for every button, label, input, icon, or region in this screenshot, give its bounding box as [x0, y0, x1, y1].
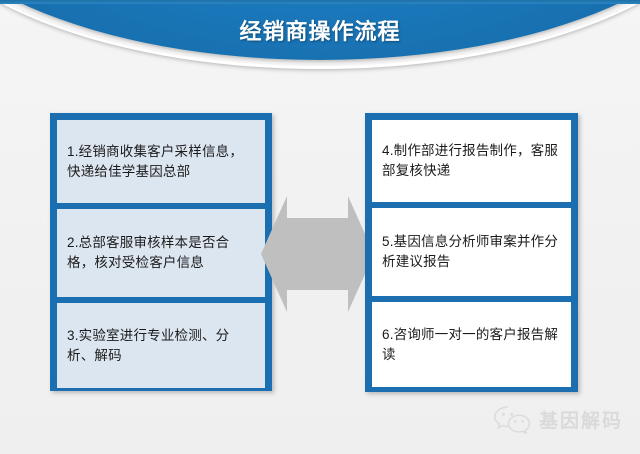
four-way-arrow-icon — [261, 188, 374, 320]
title-banner: 经销商操作流程 — [0, 0, 640, 78]
flow-step-1[interactable]: 1.经销商收集客户采样信息，快递给佳学基因总部 — [57, 120, 265, 203]
flow-step-3-label: 3.实验室进行专业检测、分析、解码 — [67, 326, 255, 365]
flow-step-6-label: 6.咨询师一对一的客户报告解读 — [382, 325, 561, 364]
flow-column-left: 1.经销商收集客户采样信息，快递给佳学基因总部 2.总部客服审核样本是否合格，核… — [50, 113, 272, 391]
flow-step-1-label: 1.经销商收集客户采样信息，快递给佳学基因总部 — [67, 142, 255, 181]
flow-step-2[interactable]: 2.总部客服审核样本是否合格，核对受检客户信息 — [57, 209, 265, 297]
page-title: 经销商操作流程 — [0, 14, 640, 46]
watermark: 基因解码 — [492, 404, 623, 434]
flow-column-right: 4.制作部进行报告制作，客服部复核快递 5.基因信息分析师审案并作分析建议报告 … — [365, 113, 578, 392]
flow-step-4[interactable]: 4.制作部进行报告制作，客服部复核快递 — [372, 120, 571, 202]
banner-top-strip — [0, 0, 640, 4]
flow-step-5-label: 5.基因信息分析师审案并作分析建议报告 — [382, 232, 561, 271]
watermark-label: 基因解码 — [539, 406, 623, 433]
wechat-icon — [492, 404, 532, 434]
slide-canvas: 经销商操作流程 1.经销商收集客户采样信息，快递给佳学基因总部 2.总部客服审核… — [0, 0, 640, 454]
flow-step-5[interactable]: 5.基因信息分析师审案并作分析建议报告 — [372, 208, 571, 296]
flow-step-6[interactable]: 6.咨询师一对一的客户报告解读 — [372, 302, 571, 387]
flow-step-3[interactable]: 3.实验室进行专业检测、分析、解码 — [57, 303, 265, 388]
flow-step-2-label: 2.总部客服审核样本是否合格，核对受检客户信息 — [67, 233, 255, 272]
flow-step-4-label: 4.制作部进行报告制作，客服部复核快递 — [382, 141, 561, 180]
